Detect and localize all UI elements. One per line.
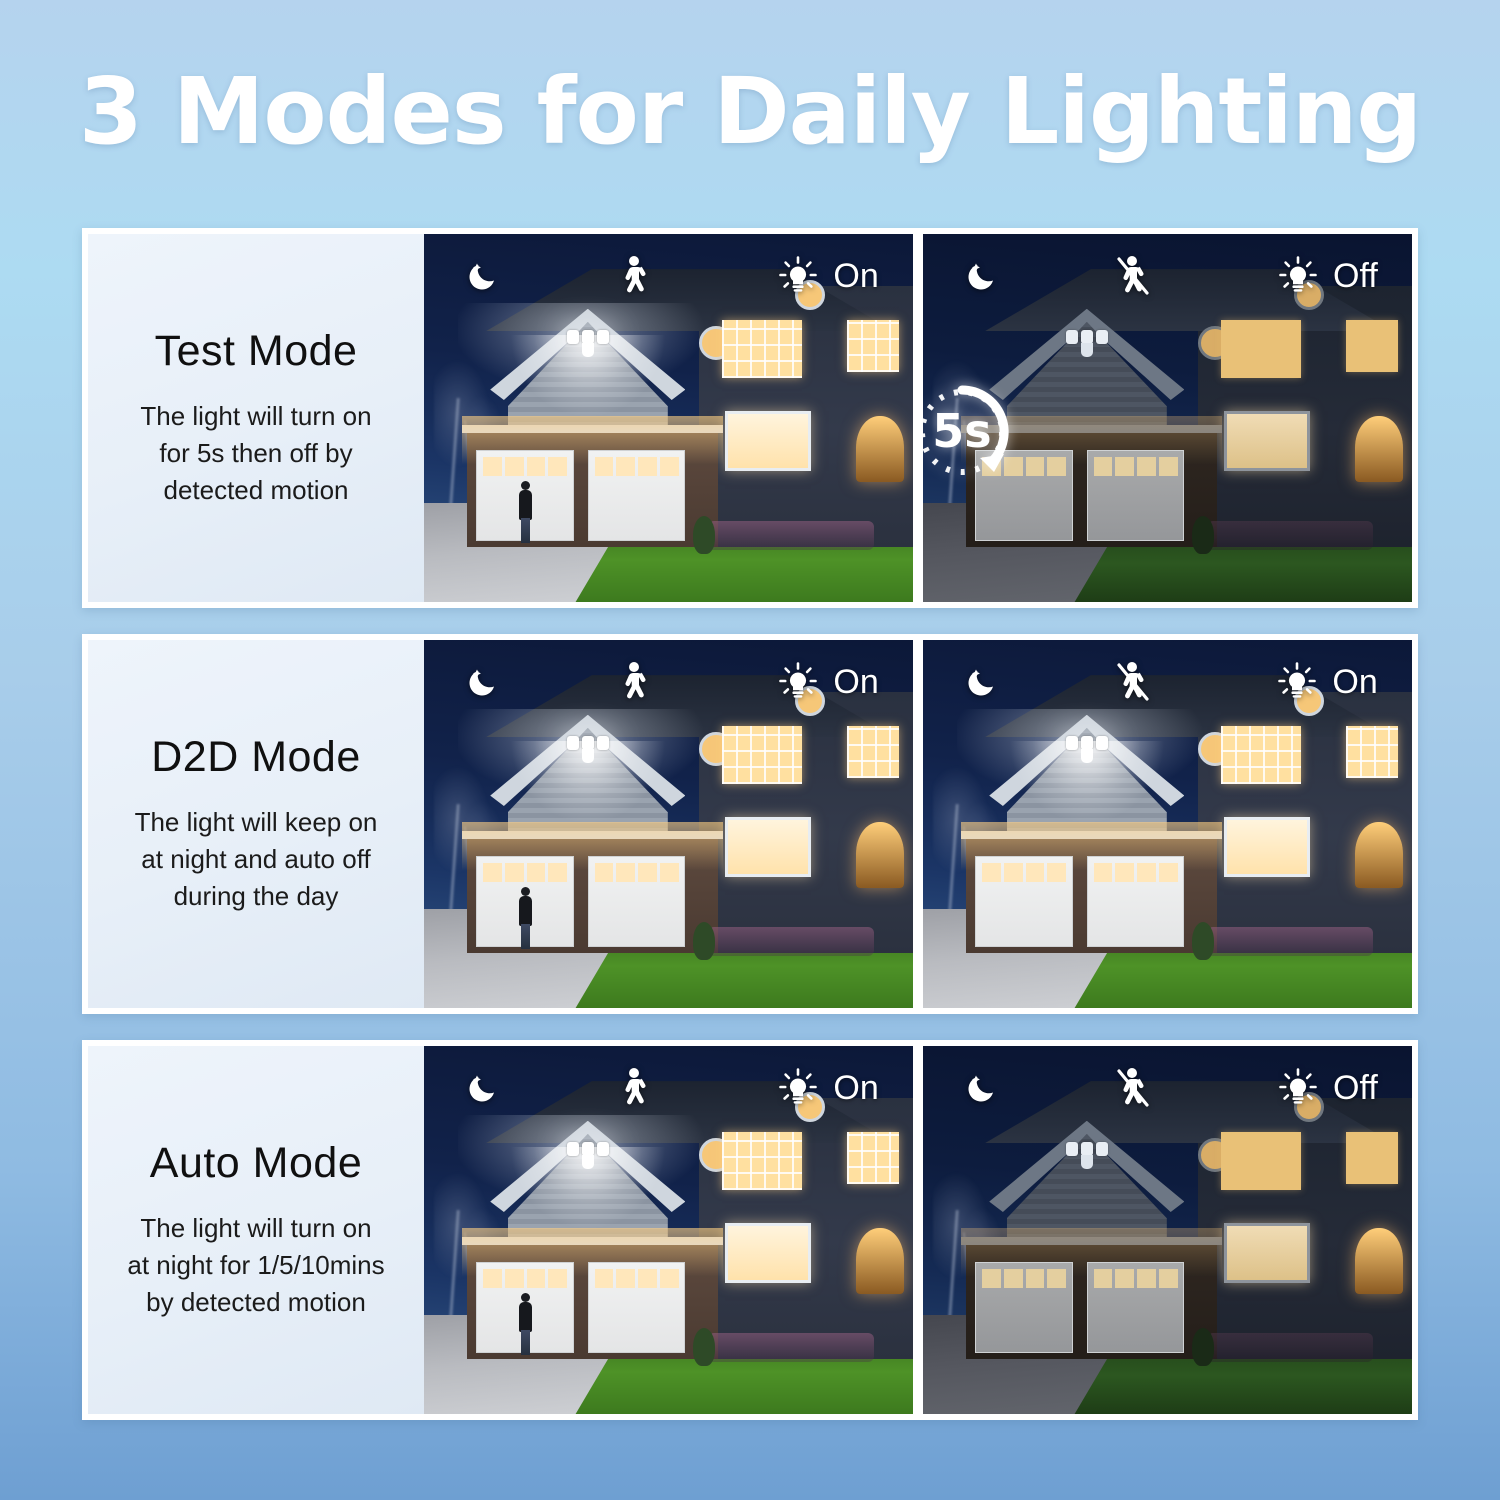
mode-label-panel: D2D Mode The light will keep on at night… (88, 640, 424, 1008)
front-door (856, 1228, 904, 1294)
garage-door (1087, 1262, 1185, 1353)
upper-window (1346, 1132, 1398, 1184)
night-moon-icon (463, 1068, 503, 1108)
upper-window (722, 1132, 802, 1190)
walking-person-motion-icon (617, 661, 651, 703)
status-icon-strip: On (923, 654, 1412, 710)
flower-bed (1207, 1333, 1373, 1362)
upper-window (1221, 320, 1301, 378)
light-bulb-status: On (1276, 661, 1377, 703)
night-moon-icon (962, 662, 1002, 702)
light-state-label: Off (1333, 1071, 1378, 1105)
countdown-timer-badge: 5s (908, 378, 1016, 486)
night-moon-icon (962, 256, 1002, 296)
shrub (1192, 1328, 1214, 1366)
security-light-fixture (1066, 736, 1108, 758)
flower-bed (708, 521, 874, 550)
security-light-fixture (567, 330, 609, 352)
light-bulb-status: On (777, 661, 878, 703)
light-bulb-status: Off (1277, 255, 1378, 297)
night-moon-icon (463, 256, 503, 296)
security-light-fixture (1066, 1142, 1108, 1164)
flower-bed (1207, 927, 1373, 956)
shrub (1192, 922, 1214, 960)
mode-description-line: The light will turn on (127, 1210, 384, 1247)
light-state-label: On (1332, 665, 1377, 699)
shrub (693, 516, 715, 554)
walking-person-no-motion-icon (1113, 1067, 1153, 1109)
status-icon-strip: On (424, 654, 913, 710)
front-door (1355, 822, 1403, 888)
walking-person (517, 887, 533, 949)
bay-window (1224, 411, 1310, 471)
garage-door (588, 450, 686, 541)
garage-door (588, 856, 686, 947)
mode-description-line: The light will turn on (140, 398, 371, 435)
mode-title: Test Mode (155, 327, 358, 376)
front-door (1355, 416, 1403, 482)
light-state-label: On (833, 665, 878, 699)
light-bulb-status: On (777, 1067, 878, 1109)
house (947, 1075, 1412, 1358)
upper-window (1346, 726, 1398, 778)
front-door (856, 416, 904, 482)
mode-title: D2D Mode (151, 733, 361, 782)
shrub (1192, 516, 1214, 554)
scene-pair: On (424, 1046, 1412, 1414)
upper-window (847, 726, 899, 778)
status-icon-strip: On (424, 248, 913, 304)
shrub (693, 1328, 715, 1366)
scene-pair: On (424, 640, 1412, 1008)
upper-window (847, 1132, 899, 1184)
walking-person (517, 1293, 533, 1355)
walking-person-motion-icon (617, 255, 651, 297)
house (947, 263, 1412, 546)
light-bulb-status: On (777, 255, 878, 297)
upper-window (722, 320, 802, 378)
walking-person-no-motion-icon (1113, 661, 1153, 703)
scene-light-on: On (424, 1046, 913, 1414)
mode-description-line: at night and auto off (135, 841, 378, 878)
garage-door (1087, 856, 1185, 947)
security-light-fixture (567, 1142, 609, 1164)
mode-description-line: for 5s then off by (140, 435, 371, 472)
mode-row-d2d: D2D Mode The light will keep on at night… (82, 634, 1418, 1014)
mode-description-line: by detected motion (127, 1284, 384, 1321)
light-state-label: On (833, 259, 878, 293)
status-icon-strip: Off (923, 1060, 1412, 1116)
light-state-label: Off (1333, 259, 1378, 293)
mode-description: The light will turn on at night for 1/5/… (127, 1210, 384, 1321)
mode-row-auto: Auto Mode The light will turn on at nigh… (82, 1040, 1418, 1420)
walking-person-motion-icon (617, 1067, 651, 1109)
bay-window (1224, 1223, 1310, 1283)
timer-label: 5s (932, 404, 991, 458)
scene-light-on: On (424, 234, 913, 602)
upper-window (722, 726, 802, 784)
flower-bed (708, 927, 874, 956)
mode-label-panel: Auto Mode The light will turn on at nigh… (88, 1046, 424, 1414)
upper-window (1346, 320, 1398, 372)
mode-description: The light will turn on for 5s then off b… (140, 398, 371, 509)
mode-description-line: during the day (135, 878, 378, 915)
night-moon-icon (962, 1068, 1002, 1108)
upper-window (847, 320, 899, 372)
scene-light-off: Off (923, 1046, 1412, 1414)
bay-window (725, 1223, 811, 1283)
mode-label-panel: Test Mode The light will turn on for 5s … (88, 234, 424, 602)
bay-window (725, 817, 811, 877)
mode-description-line: detected motion (140, 472, 371, 509)
bay-window (1224, 817, 1310, 877)
status-icon-strip: Off (923, 248, 1412, 304)
mode-row-test: Test Mode The light will turn on for 5s … (82, 228, 1418, 608)
walking-person-no-motion-icon (1113, 255, 1153, 297)
light-state-label: On (833, 1071, 878, 1105)
flower-bed (708, 1333, 874, 1362)
bay-window (725, 411, 811, 471)
page-title: 3 Modes for Daily Lighting (0, 58, 1500, 165)
front-door (856, 822, 904, 888)
scene-light-on: On (424, 640, 913, 1008)
garage-door (588, 1262, 686, 1353)
garage-door (975, 1262, 1073, 1353)
upper-window (1221, 1132, 1301, 1190)
mode-title: Auto Mode (150, 1139, 362, 1188)
walking-person (517, 481, 533, 543)
scene-light-on-no-motion: On (923, 640, 1412, 1008)
light-bulb-status: Off (1277, 1067, 1378, 1109)
garage-door (1087, 450, 1185, 541)
garage-door (975, 856, 1073, 947)
security-light-fixture (1066, 330, 1108, 352)
night-moon-icon (463, 662, 503, 702)
shrub (693, 922, 715, 960)
front-door (1355, 1228, 1403, 1294)
flower-bed (1207, 521, 1373, 550)
mode-description-line: at night for 1/5/10mins (127, 1247, 384, 1284)
mode-description: The light will keep on at night and auto… (135, 804, 378, 915)
mode-description-line: The light will keep on (135, 804, 378, 841)
upper-window (1221, 726, 1301, 784)
status-icon-strip: On (424, 1060, 913, 1116)
house (947, 669, 1412, 952)
security-light-fixture (567, 736, 609, 758)
